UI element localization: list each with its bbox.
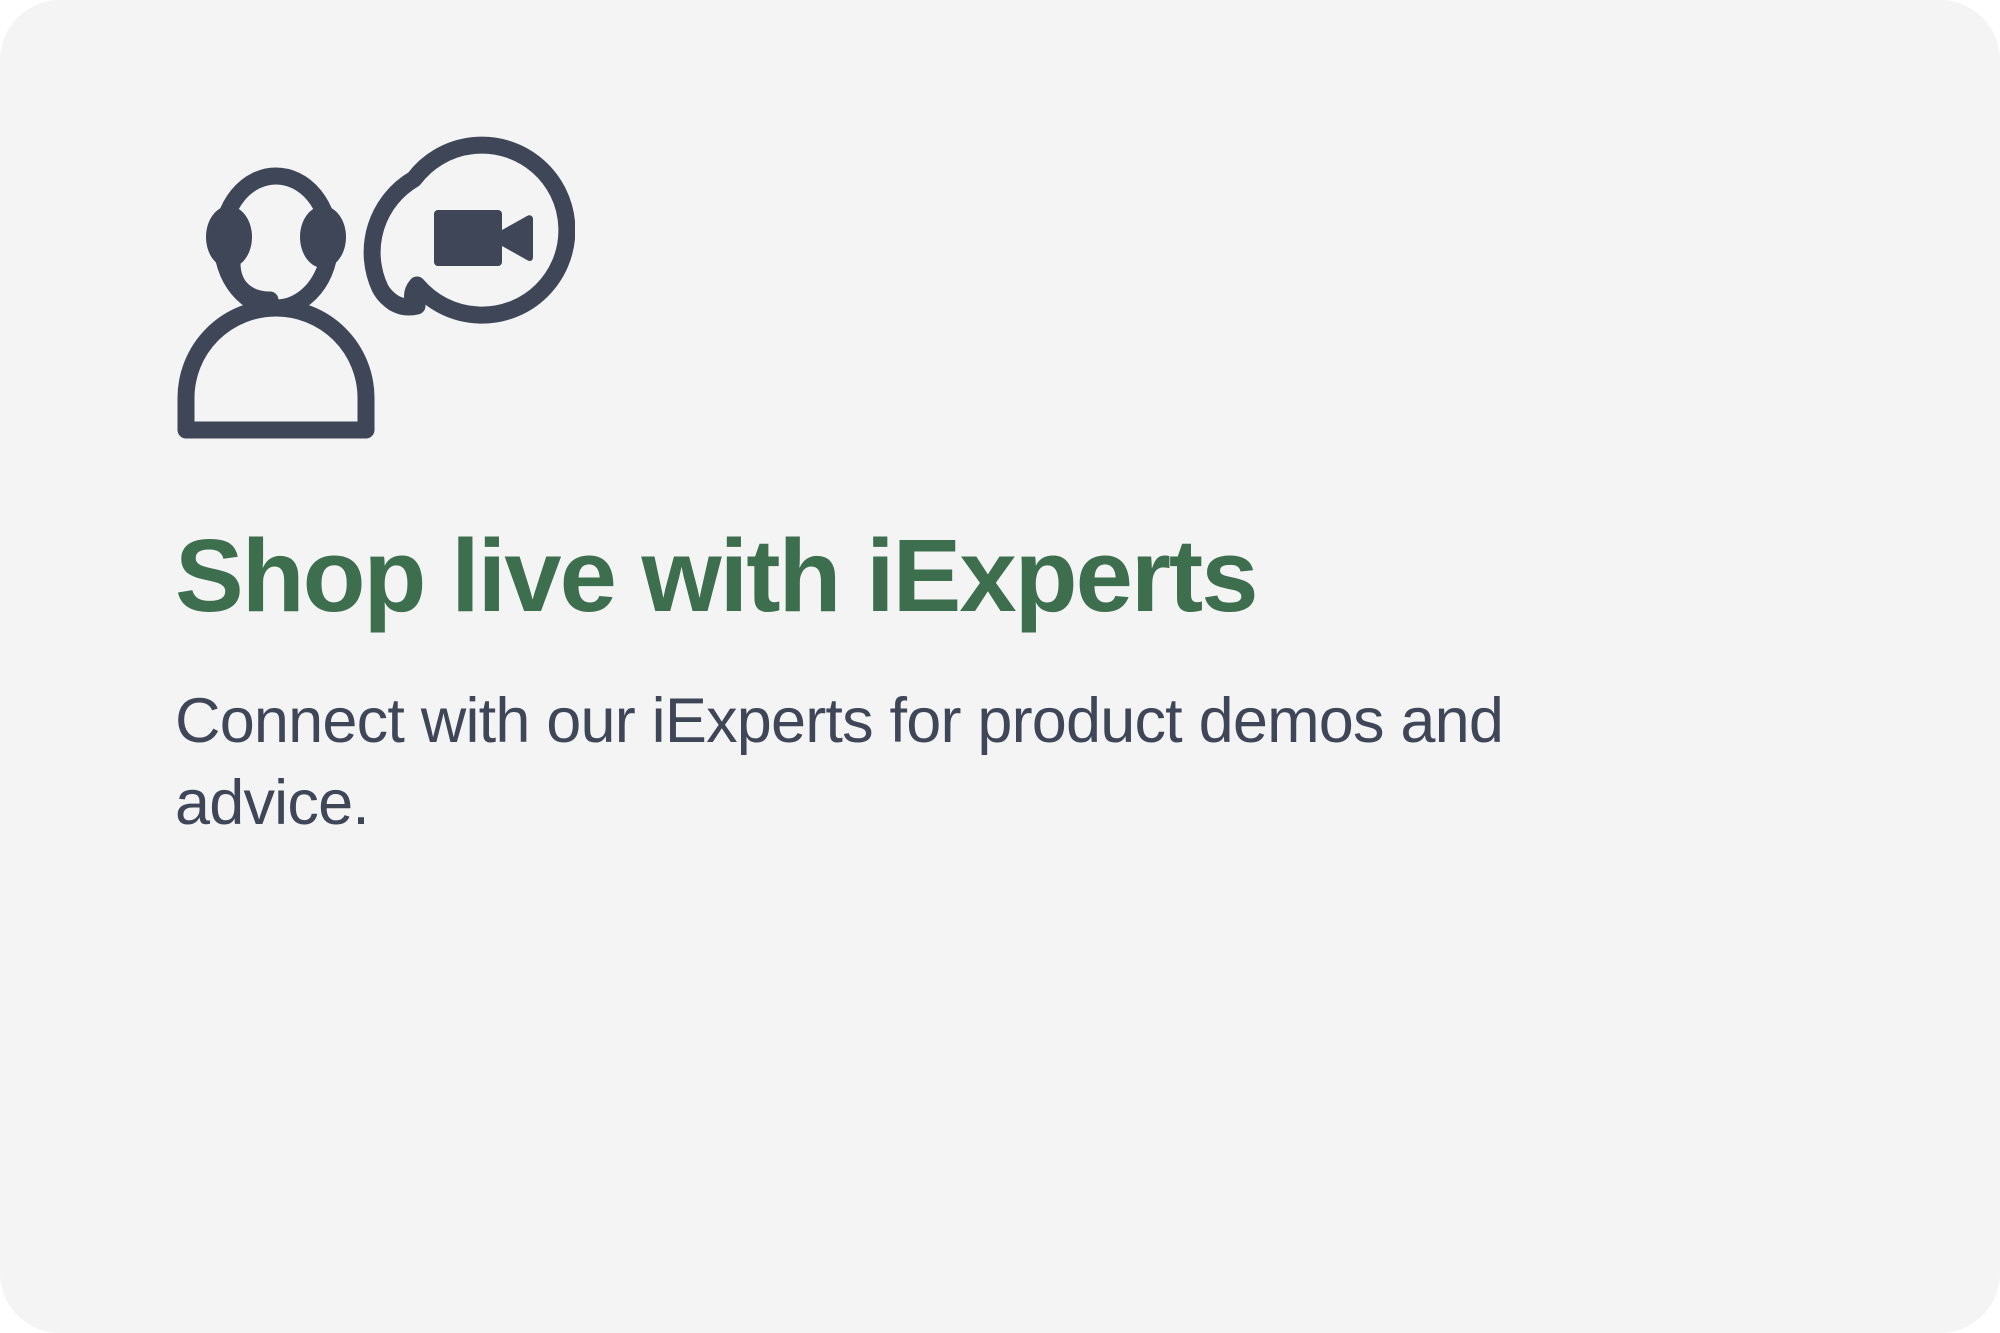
promo-card[interactable]: Shop live with iExperts Connect with our… [0,0,2000,1333]
person-shoulders-icon [186,308,366,430]
card-content: Shop live with iExperts Connect with our… [175,100,1880,845]
agent-headset-video-chat-icon [175,100,575,460]
headset-microphone-icon [232,263,270,300]
page-title: Shop live with iExperts [175,522,1880,629]
video-camera-icon [434,210,533,266]
promo-description: Connect with our iExperts for product de… [175,681,1535,845]
